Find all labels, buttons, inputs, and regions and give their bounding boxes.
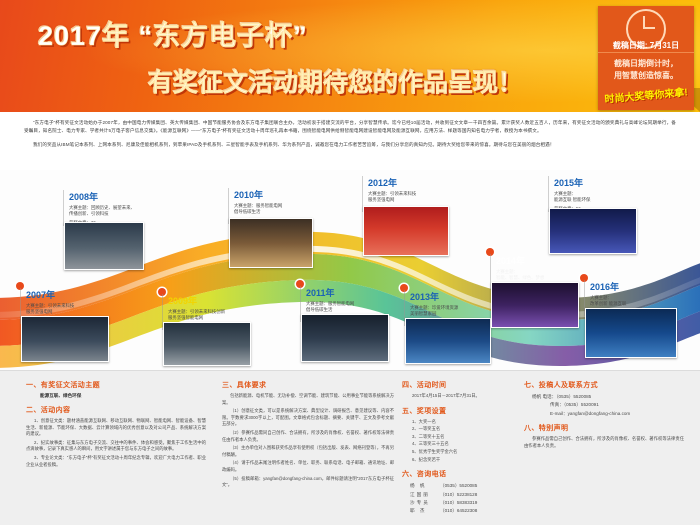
- timeline-theme: 大赛主题：引领未来科技 服务坚强电网: [26, 303, 112, 316]
- timeline-year: 2016年: [590, 280, 680, 293]
- prize-item: 1、大奖一名: [412, 419, 520, 426]
- prize-item: 6、纪念奖若干: [412, 457, 520, 464]
- timeline-section: 2008年 大赛主题：回顾历史、展望未来、 传播创新、引领科技 获奖文章：36 …: [0, 170, 700, 370]
- timeline-theme: 大赛主题：服务智能电网 倡导低碳生活: [234, 203, 320, 216]
- contact-phone: （0535）5520085: [440, 483, 477, 488]
- prize-item: 5、优秀学生奖学金六名: [412, 449, 520, 456]
- details-column-2: 三、具体要求 包括新能源、电机节能、无功补偿、空调节能、建筑节能、公用事业节能等…: [222, 380, 394, 491]
- section-3-body-5: （5）投稿邮箱：yangfan@dongfang-china.com，邮件标题请…: [222, 476, 394, 489]
- timeline-theme: 大赛主题：引领未来科技创新 服务坚强智能电网: [168, 309, 256, 322]
- section-7-heading: 七、投稿人及联系方式: [524, 380, 684, 390]
- timeline-year: 2012年: [368, 176, 454, 189]
- section-8-body: 参赛作品需自己创作、合法拥有，所涉及的肖像权、名誉权、著作权等法律责任由作者本人…: [524, 436, 684, 449]
- timeline-photo-2013: [405, 318, 491, 364]
- timeline-photo-2010: [229, 218, 313, 268]
- timeline-photo-2008: [64, 222, 144, 270]
- timeline-year: 2009年: [168, 294, 256, 307]
- timeline-year: 2010年: [234, 188, 320, 201]
- timeline-photo-2016: [585, 308, 677, 358]
- details-column-4: 七、投稿人及联系方式 杨帆 电话：（0535）5520085 传真：（0535）…: [524, 380, 684, 451]
- contact-row: 耶 杰（010）64522308: [410, 507, 520, 514]
- section-3-body-4: （4）请于作品末尾注明作者姓名、单位、职务、联系电话、电子邮箱、通讯地址、邮政编…: [222, 460, 394, 473]
- section-3-body-0: 包括新能源、电机节能、无功补偿、空调节能、建筑节能、公用事业节能等系统解决方案。: [222, 393, 394, 406]
- submitter-line: 杨帆 电话：（0535）5520085: [532, 393, 684, 400]
- details-column-1: 一、有奖征文活动主题 能源互联、绿色环保 二、活动内容 1、创意征文类：题材涵盖…: [26, 380, 206, 470]
- timeline-year: 2013年: [410, 290, 494, 303]
- page-title-line1: 2017年 “东方电子杯”: [38, 14, 598, 53]
- submitter-fax: 传真：（0535）5520091: [550, 401, 684, 408]
- section-3-body-1: （1）创意征文类，可以是系统解决方案、典型设计、调研报告、意见建议等、内容不限。…: [222, 408, 394, 428]
- contact-row: 杨 帆（0535）5520085: [410, 482, 520, 489]
- section-5-heading: 五、奖项设置: [402, 406, 520, 416]
- timeline-theme: 大赛主题：回顾历史、展望未来、 传播创新、引领科技: [69, 205, 151, 218]
- timeline-year: 2011年: [306, 286, 392, 299]
- contact-name: 杨 帆: [410, 482, 440, 489]
- badge-deadline-text: 截稿日期: 7月31日: [598, 40, 694, 51]
- section-4-heading: 四、活动时间: [402, 380, 520, 390]
- details-column-3: 四、活动时间 2017年4月15日－2017年7月31日。 五、奖项设置 1、大…: [402, 380, 520, 516]
- page-title-line2: 有奖征文活动期待您的作品呈现！: [148, 63, 598, 99]
- badge-note-line1: 截稿日期倒计时，: [602, 58, 690, 70]
- timeline-card-2015: 2015年 大赛主题： 能源互联 智能环保 获奖文章：56: [548, 176, 640, 212]
- intro-section: “东方电子”杯有奖征文活动始办于2007年，由中国电力传媒集团、英大传媒集团、中…: [0, 112, 700, 170]
- badge-top: 截稿日期: 7月31日: [598, 6, 694, 53]
- section-1-heading: 一、有奖征文活动主题: [26, 380, 206, 390]
- poster-header: 2017年 “东方电子杯” 有奖征文活动期待您的作品呈现！ 截稿日期: 7月31…: [0, 0, 700, 112]
- section-1-theme: 能源互联、绿色环保: [40, 393, 206, 399]
- intro-paragraph-2: 我们的奖品从IBM笔记本系列、上网本系列、尼康及佳能相机系列，到苹果IPAD及手…: [0, 134, 700, 149]
- intro-paragraph-1: “东方电子”杯有奖征文活动始办于2007年，由中国电力传媒集团、英大传媒集团、中…: [0, 112, 700, 134]
- timeline-theme: 大赛主题：珍爱环境资源 美丽智慧家园: [410, 305, 494, 318]
- badge-note-line2: 用智慧创造惊喜。: [602, 70, 690, 82]
- section-2-heading: 二、活动内容: [26, 405, 206, 415]
- contact-phone: （010）52238128: [440, 492, 477, 497]
- timeline-theme: 大赛主题：引领未来科技 服务坚强电网: [368, 191, 454, 204]
- timeline-card-2008: 2008年 大赛主题：回顾历史、展望未来、 传播创新、引领科技 获奖文章：36: [63, 190, 151, 226]
- section-8-heading: 八、特别声明: [524, 423, 684, 433]
- section-4-period: 2017年4月15日－2017年7月31日。: [412, 393, 520, 400]
- badge-ribbon-text: 时尚大奖等你来拿!: [592, 82, 700, 106]
- timeline-photo-2014: [491, 282, 579, 328]
- contact-name: 耶 杰: [410, 507, 440, 514]
- prize-item: 4、三等奖三十五名: [412, 441, 520, 448]
- deadline-badge: 截稿日期: 7月31日 截稿日期倒计时， 用智慧创造惊喜。 时尚大奖等你来拿!: [598, 6, 694, 110]
- details-panel: 一、有奖征文活动主题 能源互联、绿色环保 二、活动内容 1、创意征文类：题材涵盖…: [0, 370, 700, 525]
- timeline-photo-2015: [549, 208, 637, 254]
- prize-item: 3、二等奖十五名: [412, 434, 520, 441]
- timeline-year: 2015年: [554, 176, 640, 189]
- contact-name: 沙专员: [410, 499, 440, 506]
- section-6-heading: 六、咨询电话: [402, 469, 520, 479]
- contact-name: 江国丽: [410, 491, 440, 498]
- section-2-item3-head: 3、专业论文类：: [34, 455, 67, 460]
- contact-phone: （010）64522308: [440, 508, 477, 513]
- timeline-photo-2009: [163, 322, 251, 366]
- contact-row: 江国丽（010）52238128: [410, 491, 520, 498]
- badge-note: 截稿日期倒计时， 用智慧创造惊喜。: [598, 53, 694, 84]
- prize-item: 2、一等奖五名: [412, 426, 520, 433]
- timeline-photo-2012: [363, 206, 449, 256]
- timeline-theme: 大赛主题： 能源互联 智能环保: [554, 191, 640, 204]
- section-2-item2-head: 2、纪实故事类：: [34, 440, 67, 445]
- header-title-block: 2017年 “东方电子杯” 有奖征文活动期待您的作品呈现！: [38, 14, 598, 99]
- contact-phone: （010）58383319: [440, 500, 477, 505]
- poster-root: 2017年 “东方电子杯” 有奖征文活动期待您的作品呈现！ 截稿日期: 7月31…: [0, 0, 700, 525]
- timeline-photo-2011: [301, 314, 389, 362]
- timeline-theme: 大赛主题： 智能、智慧、绿色、梦想: [496, 269, 582, 282]
- submitter-email[interactable]: E-mail：yangfan@dongfang-china.com: [550, 410, 684, 417]
- timeline-photo-2007: [21, 316, 109, 362]
- section-2-item1-head: 1、创意征文类：: [34, 418, 67, 423]
- contact-row: 沙专员（010）58383319: [410, 499, 520, 506]
- section-3-body-2: （2）参赛作品需同自己创作、合法拥有，所涉及的肖像权、名誉权、著作权等法律责任由…: [222, 430, 394, 443]
- timeline-theme: 大赛主题：服务智能电网 倡导低碳生活: [306, 301, 392, 314]
- details-columns: 一、有奖征文活动主题 能源互联、绿色环保 二、活动内容 1、创意征文类：题材涵盖…: [0, 371, 700, 503]
- timeline-year: 2008年: [69, 190, 151, 203]
- timeline-theme: 大赛主题： 改革创新 能源互联: [590, 295, 680, 308]
- timeline-year: 2014年: [496, 254, 582, 267]
- section-3-body-3: （3）主办单位对入围和获奖作品享有使用权（包括出版、发表、网络刊登等），不再另付…: [222, 445, 394, 458]
- section-3-heading: 三、具体要求: [222, 380, 394, 390]
- timeline-year: 2007年: [26, 288, 112, 301]
